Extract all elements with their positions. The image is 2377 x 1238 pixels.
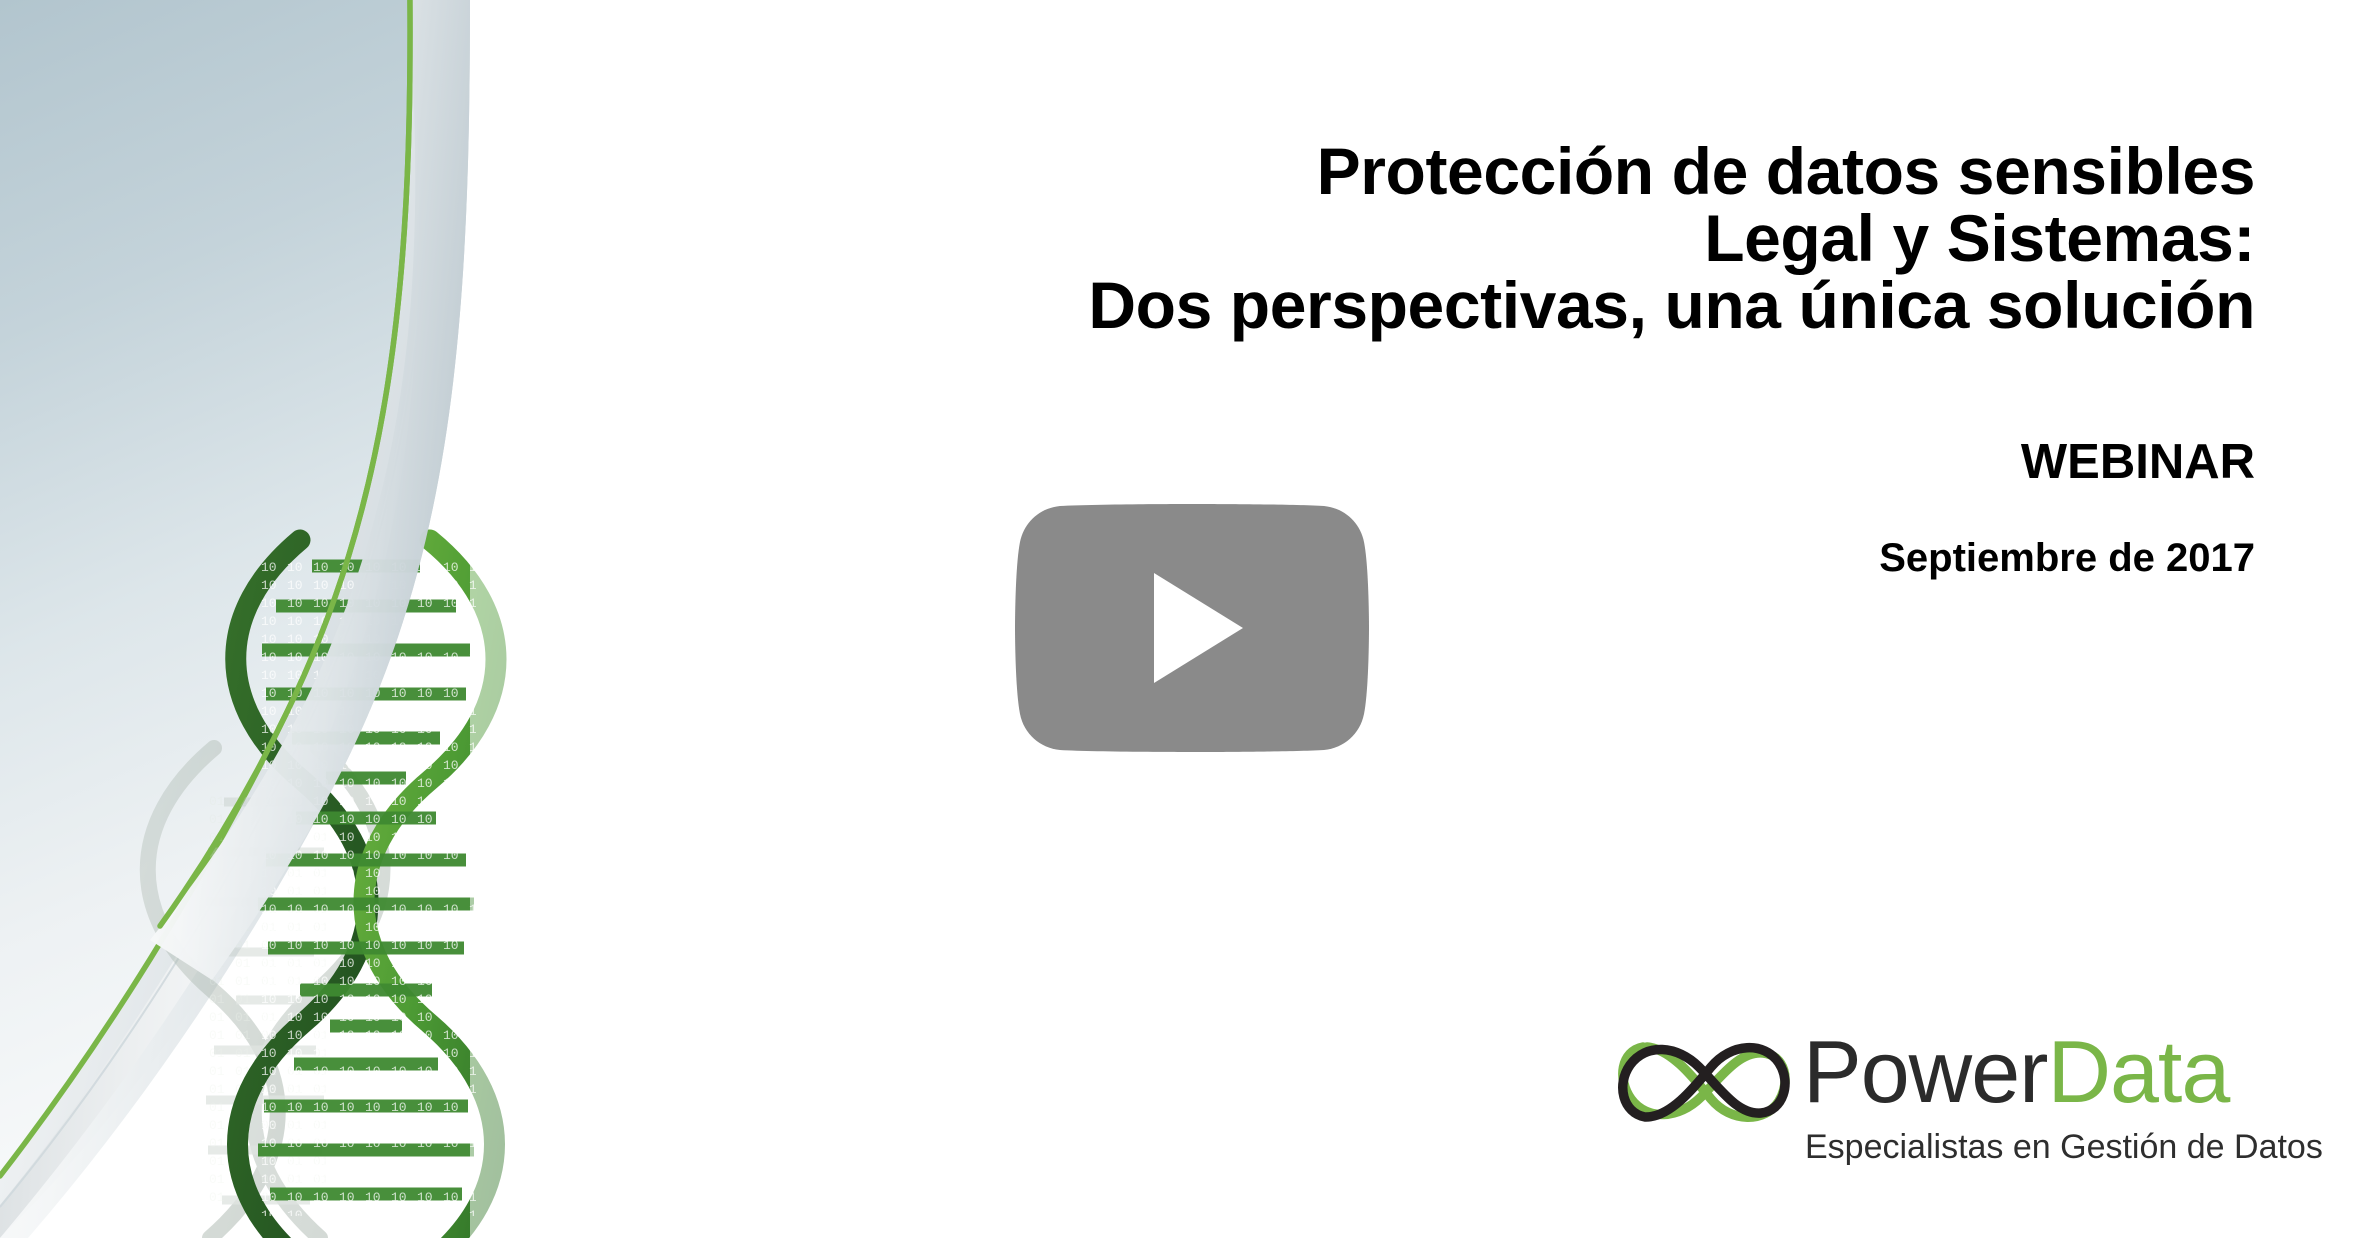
logo-wordmark: PowerData: [1803, 1020, 2229, 1124]
infinity-loop-black: [1623, 1048, 1785, 1117]
logo-tagline: Especialistas en Gestión de Datos: [1805, 1128, 2275, 1167]
title-line-2: Legal y Sistemas:: [600, 205, 2255, 272]
logo-word-data: Data: [2047, 1022, 2229, 1121]
title-line-1: Protección de datos sensibles: [600, 138, 2255, 205]
decorative-artwork: 10 01: [0, 0, 660, 1238]
webinar-label: WEBINAR: [1200, 434, 2255, 490]
powerdata-logo: PowerData Especialistas en Gestión de Da…: [1613, 1020, 2273, 1180]
curled-page-dna-illustration: 10 01: [0, 0, 660, 1238]
slide-title: Protección de datos sensibles Legal y Si…: [600, 138, 2255, 339]
title-line-3: Dos perspectivas, una única solución: [600, 272, 2255, 339]
webinar-title-slide: 10 01: [0, 0, 2377, 1238]
infinity-icon: [1613, 1025, 1798, 1140]
logo-word-power: Power: [1803, 1022, 2047, 1121]
date-label: Septiembre de 2017: [1200, 536, 2255, 581]
